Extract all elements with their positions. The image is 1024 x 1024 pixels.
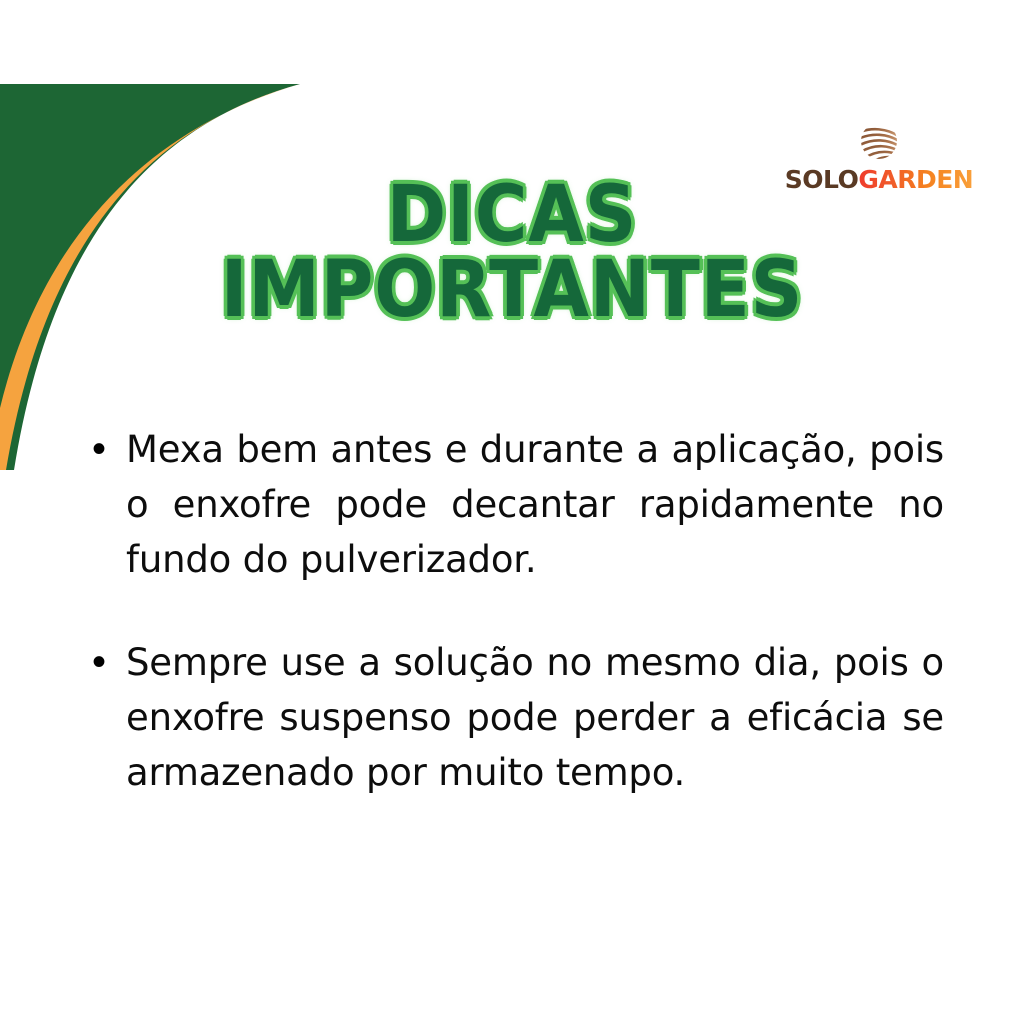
list-item: • Mexa bem antes e durante a aplicação, … — [88, 422, 944, 587]
bullet-list: • Mexa bem antes e durante a aplicação, … — [88, 422, 944, 848]
bullet-marker-icon: • — [88, 422, 126, 476]
globe-fan-icon — [854, 118, 904, 164]
slide-canvas: SOLOGARDEN DICAS IMPORTANTES • Mexa bem … — [0, 0, 1024, 1024]
list-item: • Sempre use a solução no mesmo dia, poi… — [88, 635, 944, 800]
bullet-marker-icon: • — [88, 635, 126, 689]
bullet-text: Mexa bem antes e durante a aplicação, po… — [126, 422, 944, 587]
page-title: DICAS IMPORTANTES — [41, 178, 983, 328]
bullet-text: Sempre use a solução no mesmo dia, pois … — [126, 635, 944, 800]
